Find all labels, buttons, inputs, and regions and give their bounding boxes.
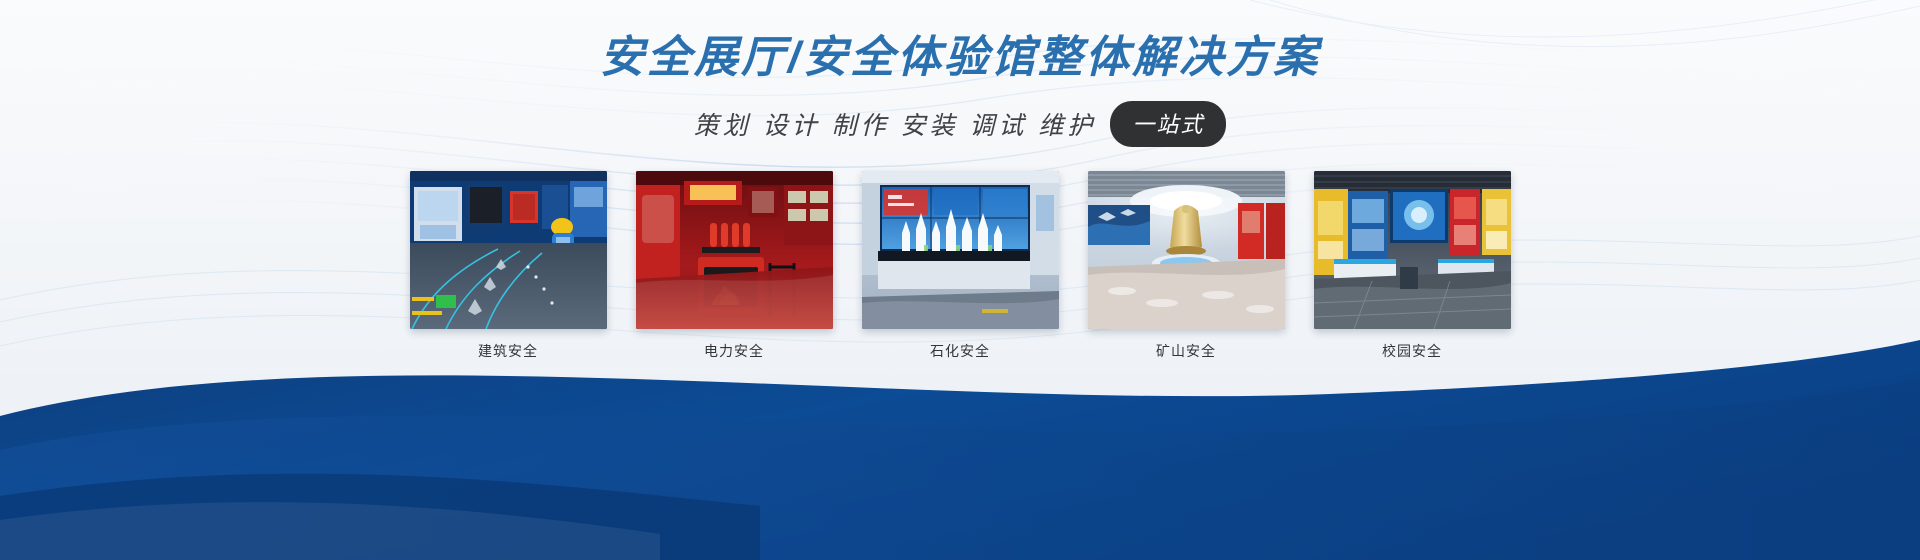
case-card-label: 校园安全 bbox=[1314, 341, 1511, 361]
case-thumbnail[interactable] bbox=[636, 171, 833, 329]
case-thumbnail[interactable] bbox=[862, 171, 1059, 329]
construction-safety-exhibition-hall-image bbox=[410, 171, 607, 329]
banner-root: 安全展厅/安全体验馆整体解决方案 策划 设计 制作 安装 调试 维护 一站式 bbox=[0, 0, 1920, 560]
case-card-label: 电力安全 bbox=[636, 341, 833, 361]
mining-safety-exhibition-hall-image bbox=[1088, 171, 1285, 329]
case-card[interactable]: 矿山安全 bbox=[1088, 171, 1285, 361]
case-card-label: 建筑安全 bbox=[410, 341, 607, 361]
banner-content: 安全展厅/安全体验馆整体解决方案 策划 设计 制作 安装 调试 维护 一站式 bbox=[0, 0, 1920, 361]
case-thumbnail[interactable] bbox=[1088, 171, 1285, 329]
page-title: 安全展厅/安全体验馆整体解决方案 bbox=[0, 0, 1920, 85]
case-card[interactable]: 电力安全 bbox=[636, 171, 833, 361]
case-thumbnail[interactable] bbox=[410, 171, 607, 329]
electric-power-safety-exhibition-hall-image bbox=[636, 171, 833, 329]
petrochemical-safety-exhibition-hall-image bbox=[862, 171, 1059, 329]
service-steps-text: 策划 设计 制作 安装 调试 维护 bbox=[694, 106, 1097, 142]
subtitle-row: 策划 设计 制作 安装 调试 维护 一站式 bbox=[0, 101, 1920, 147]
case-card[interactable]: 石化安全 bbox=[862, 171, 1059, 361]
case-thumbnail[interactable] bbox=[1314, 171, 1511, 329]
case-card[interactable]: 校园安全 bbox=[1314, 171, 1511, 361]
one-stop-badge: 一站式 bbox=[1110, 101, 1226, 147]
campus-safety-exhibition-hall-image bbox=[1314, 171, 1511, 329]
case-card[interactable]: 建筑安全 bbox=[410, 171, 607, 361]
case-card-label: 石化安全 bbox=[862, 341, 1059, 361]
case-card-label: 矿山安全 bbox=[1088, 341, 1285, 361]
case-card-list: 建筑安全 bbox=[0, 171, 1920, 361]
